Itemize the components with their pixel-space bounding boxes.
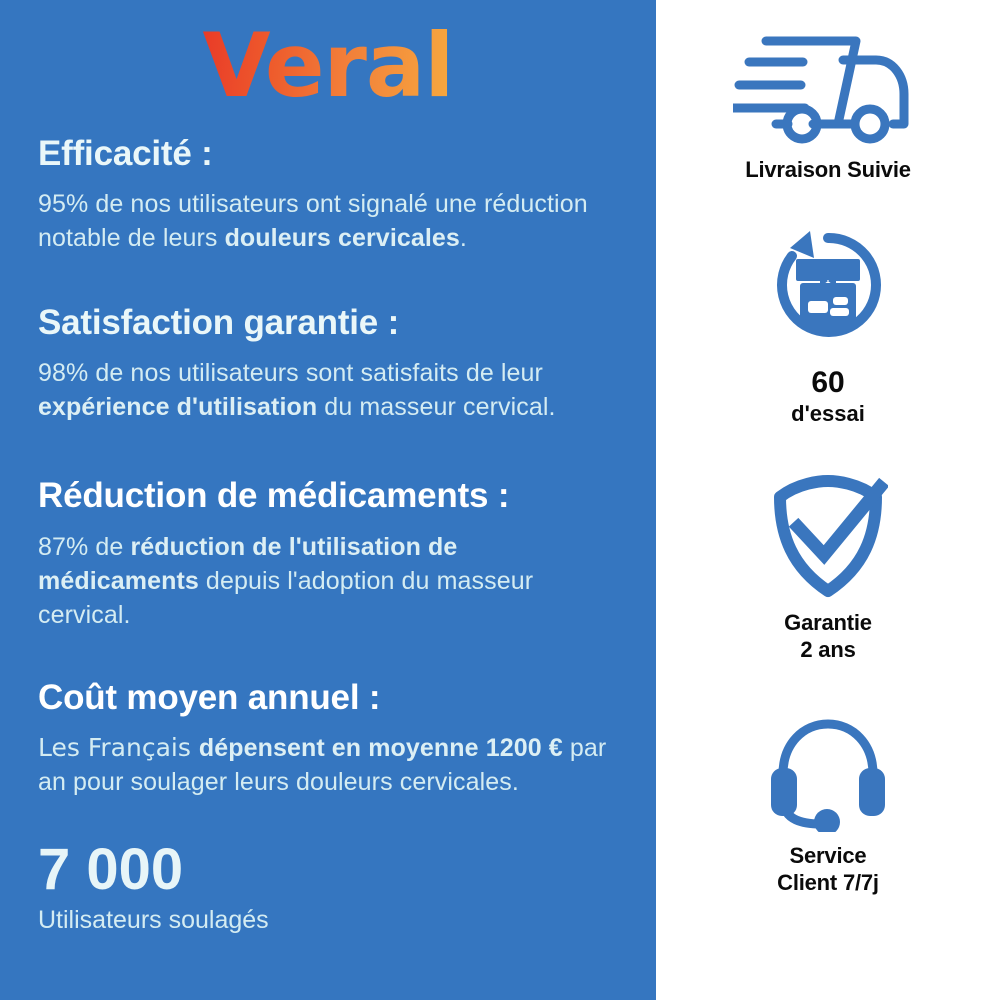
stat-text-segment: 98% de nos utilisateurs sont satisfaits … <box>38 359 543 387</box>
stat-text-emphasis: dépensent en moyenne 1200 € <box>199 734 563 762</box>
stat-heading-reduction: Réduction de médicaments : <box>38 476 618 515</box>
headset-support-icon <box>765 716 891 832</box>
fast-delivery-truck-icon <box>733 28 923 146</box>
stat-heading-cout: Coût moyen annuel : <box>38 678 618 717</box>
promo-infographic: Veral Efficacité : 95% de nos utilisateu… <box>0 0 1000 1000</box>
counter-value: 7 000 <box>38 841 618 899</box>
feature-label-line: Client 7/7j <box>777 869 879 896</box>
feature-label-livraison: Livraison Suivie <box>745 156 911 183</box>
shield-check-icon <box>768 475 888 599</box>
feature-item-service: Service Client 7/7j <box>656 716 1000 897</box>
return-box-circular-arrow-icon <box>762 225 894 357</box>
stats-panel: Veral Efficacité : 95% de nos utilisateu… <box>0 0 656 1000</box>
stat-text-segment: 87% de <box>38 533 130 561</box>
stat-body-satisfaction: 98% de nos utilisateurs sont satisfaits … <box>38 356 618 424</box>
feature-item-essai: 60 d'essai <box>656 225 1000 427</box>
stat-body-reduction: 87% de réduction de l'utilisation de méd… <box>38 530 618 632</box>
feature-label-line: Service <box>777 842 879 869</box>
stat-block-cout: Coût moyen annuel : Les Français dépense… <box>38 678 618 799</box>
stat-text-segment: Les Français <box>38 733 199 762</box>
stat-heading-efficacite: Efficacité : <box>38 134 618 173</box>
users-counter: 7 000 Utilisateurs soulagés <box>38 841 618 935</box>
stat-body-efficacite: 95% de nos utilisateurs ont signalé une … <box>38 187 618 255</box>
stat-block-reduction: Réduction de médicaments : 87% de réduct… <box>38 476 618 631</box>
feature-label-line: 2 ans <box>784 636 872 663</box>
feature-item-livraison: Livraison Suivie <box>656 28 1000 183</box>
stat-heading-satisfaction: Satisfaction garantie : <box>38 303 618 342</box>
brand-wordmark: Veral <box>203 22 454 110</box>
counter-label: Utilisateurs soulagés <box>38 905 618 935</box>
stat-text-emphasis: douleurs cervicales <box>225 224 460 252</box>
feature-label-service: Service Client 7/7j <box>777 842 879 897</box>
stat-text-segment: du masseur cervical. <box>317 393 555 421</box>
brand-logo: Veral <box>38 0 618 118</box>
stat-text-segment: . <box>460 224 467 252</box>
stat-block-satisfaction: Satisfaction garantie : 98% de nos utili… <box>38 303 618 424</box>
feature-label-line: Garantie <box>784 609 872 636</box>
stat-text-emphasis: expérience d'utilisation <box>38 393 317 421</box>
feature-sublabel-essai: d'essai <box>791 401 865 427</box>
feature-label-garantie: Garantie 2 ans <box>784 609 872 664</box>
feature-column: Livraison Suivie <box>656 0 1000 1000</box>
stat-block-efficacite: Efficacité : 95% de nos utilisateurs ont… <box>38 134 618 255</box>
stat-body-cout: Les Français dépensent en moyenne 1200 €… <box>38 731 618 799</box>
feature-item-garantie: Garantie 2 ans <box>656 475 1000 664</box>
feature-bignum-essai: 60 <box>811 367 844 399</box>
